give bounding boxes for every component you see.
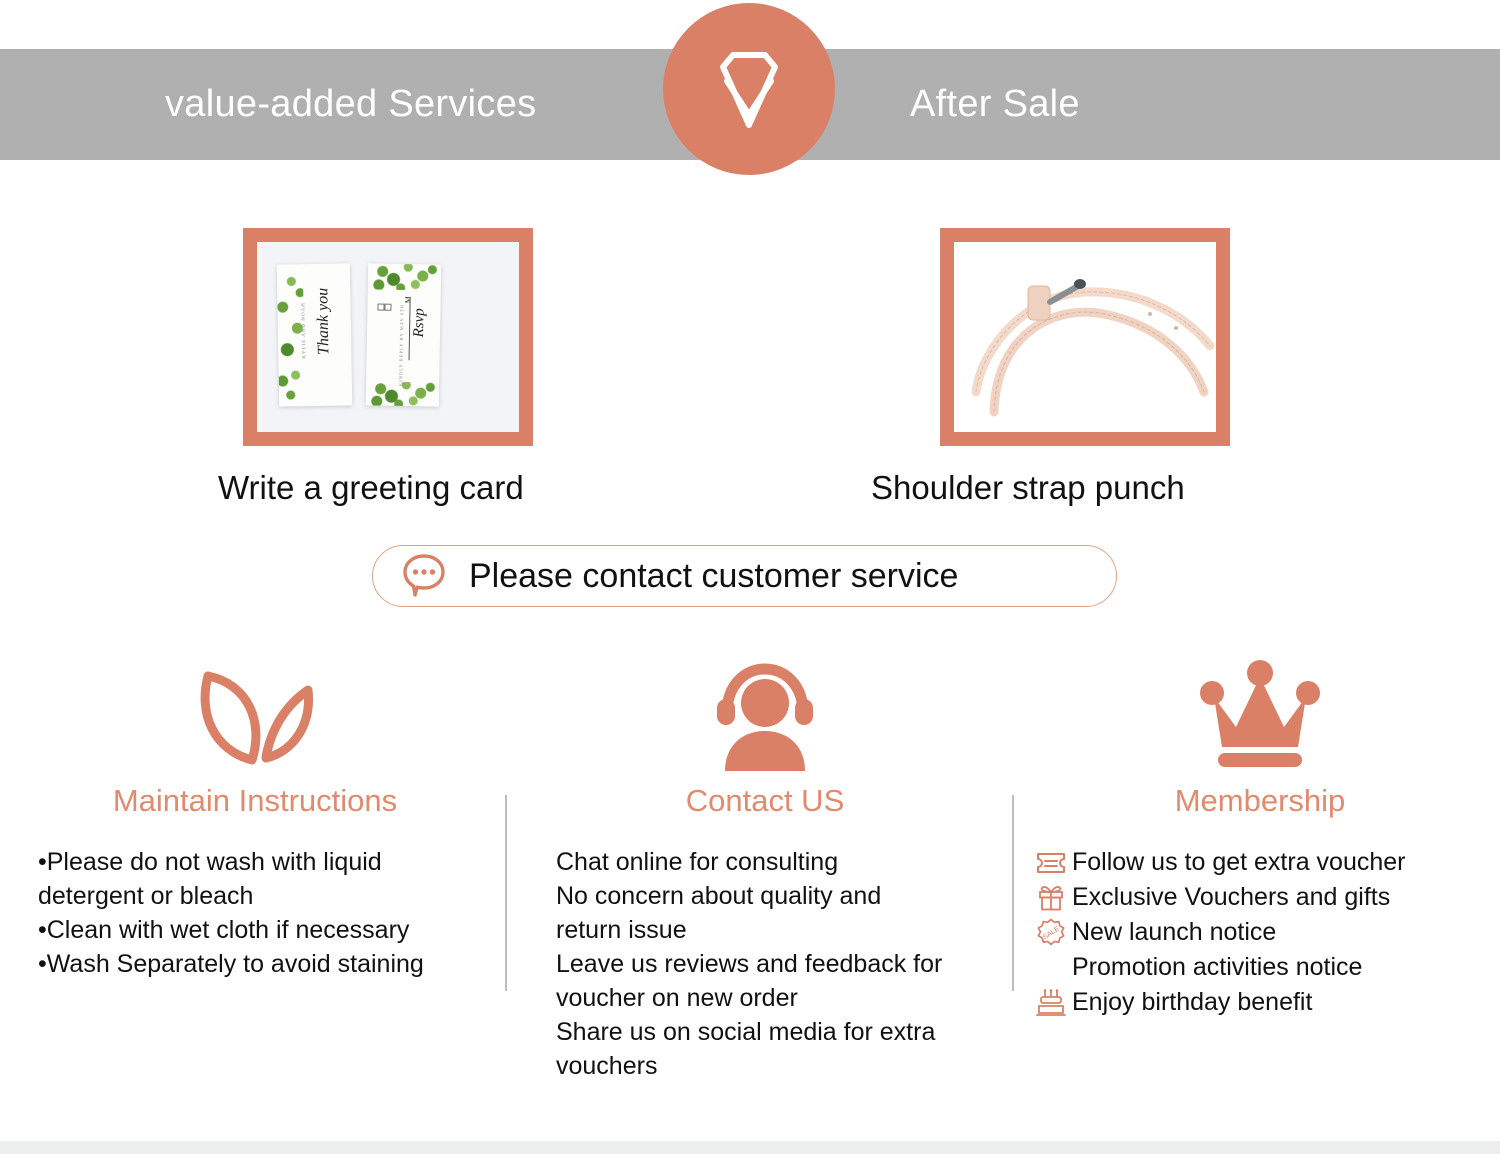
leather-strap-illustration (954, 242, 1216, 432)
foliage-decoration (277, 264, 305, 406)
membership-benefit-label: Exclusive Vouchers and gifts (1072, 883, 1390, 912)
column-title-membership: Membership (1030, 783, 1490, 819)
contact-line: No concern about quality and (556, 879, 1000, 913)
ticket-voucher-icon (1030, 851, 1072, 875)
contact-line: Leave us reviews and feedback for (556, 947, 1000, 981)
contact-us-body: Chat online for consulting No concern ab… (530, 845, 1000, 1083)
rsvp-card-name-line: M (404, 296, 413, 303)
diamond-v-logo-icon (693, 33, 805, 145)
membership-benefit-label: Follow us to get extra voucher (1072, 848, 1406, 877)
rsvp-card: Rsvp M KINDLY REPLY BY MAY 6TH (366, 263, 441, 406)
greeting-card-caption: Write a greeting card (218, 469, 524, 507)
crown-icon (1030, 655, 1490, 775)
thank-you-card-subtitle: KYLIE AND NOAH (301, 302, 307, 359)
contact-line: return issue (556, 913, 1000, 947)
gift-box-icon (1030, 884, 1072, 912)
list-item: Promotion activities notice (1030, 950, 1490, 985)
column-maintain-instructions: Maintain Instructions •Please do not was… (20, 655, 490, 981)
thank-you-card: Thank you KYLIE AND NOAH (277, 263, 352, 406)
contact-customer-service-banner[interactable]: Please contact customer service (372, 545, 1117, 607)
rsvp-checkbox-decline (377, 304, 384, 311)
maintain-line: •Wash Separately to avoid staining (38, 947, 490, 981)
thank-you-card-title: Thank you (314, 288, 333, 355)
footer-band (0, 1141, 1500, 1154)
membership-benefit-label: New launch notice (1072, 918, 1276, 947)
greeting-card-photo-frame: Thank you KYLIE AND NOAH Rsvp M KINDLY R… (243, 228, 533, 446)
leaves-icon (20, 655, 490, 775)
rsvp-checkbox-accept (384, 304, 391, 311)
rsvp-card-title: Rsvp (411, 308, 429, 337)
greeting-card-photo: Thank you KYLIE AND NOAH Rsvp M KINDLY R… (257, 242, 519, 432)
maintain-line: •Please do not wash with liquid (38, 845, 490, 879)
contact-line: vouchers (556, 1049, 1000, 1083)
chat-bubble-icon (401, 552, 447, 600)
contact-line: Share us on social media for extra (556, 1015, 1000, 1049)
brand-logo (663, 3, 835, 175)
info-columns: Maintain Instructions •Please do not was… (0, 655, 1500, 1135)
maintain-instructions-body: •Please do not wash with liquid detergen… (20, 845, 490, 981)
column-title-contact: Contact US (530, 783, 1000, 819)
rsvp-card-sub: KINDLY REPLY BY MAY 6TH (398, 304, 404, 386)
header-title-left: value-added Services (165, 49, 536, 160)
membership-benefits-list: Follow us to get extra voucher Exclusive… (1030, 845, 1490, 1020)
shoulder-strap-caption: Shoulder strap punch (871, 469, 1185, 507)
membership-benefit-label: Enjoy birthday benefit (1072, 988, 1312, 1017)
column-membership: Membership Follow us to get extra vouche… (1030, 655, 1490, 1020)
list-item: SALE New launch notice (1030, 915, 1490, 950)
list-item: Follow us to get extra voucher (1030, 845, 1490, 880)
list-item: Enjoy birthday benefit (1030, 985, 1490, 1020)
birthday-cake-icon (1030, 989, 1072, 1017)
foliage-decoration-top (368, 263, 441, 290)
shoulder-strap-photo (954, 242, 1216, 432)
column-contact-us: Contact US Chat online for consulting No… (530, 655, 1000, 1083)
shoulder-strap-photo-frame (940, 228, 1230, 446)
maintain-line: detergent or bleach (38, 879, 490, 913)
page-root: value-added Services After Sale Thank yo… (0, 0, 1500, 1154)
contact-line: voucher on new order (556, 981, 1000, 1015)
headset-support-icon (530, 655, 1000, 775)
contact-customer-service-label: Please contact customer service (469, 557, 958, 596)
column-title-maintain: Maintain Instructions (20, 783, 490, 819)
list-item: Exclusive Vouchers and gifts (1030, 880, 1490, 915)
membership-benefit-label: Promotion activities notice (1072, 953, 1362, 982)
contact-line: Chat online for consulting (556, 845, 1000, 879)
sale-badge-icon: SALE (1030, 918, 1072, 948)
maintain-line: •Clean with wet cloth if necessary (38, 913, 490, 947)
header-title-right: After Sale (910, 49, 1080, 160)
svg-text:SALE: SALE (1042, 925, 1061, 941)
